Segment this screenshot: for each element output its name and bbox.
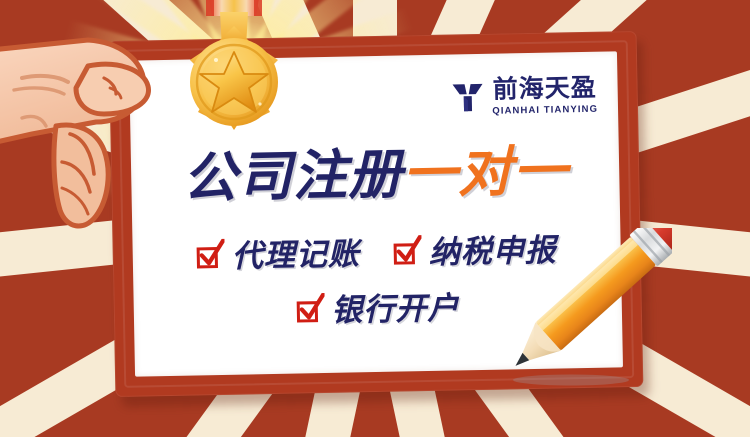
headline-primary: 公司注册: [182, 144, 403, 208]
service-item: 银行开户: [296, 292, 460, 326]
promo-banner: 前海天盈 QIANHAI TIANYING 公司注册一对一 代理: [0, 0, 750, 437]
checkbox-checked-icon: [296, 298, 322, 324]
pointing-hand-icon: [0, 30, 182, 280]
service-item: 代理记账: [196, 238, 360, 272]
t-funnel-logo-icon: [451, 80, 486, 115]
checkbox-checked-icon: [197, 243, 223, 269]
service-label: 代理记账: [231, 238, 360, 271]
brand-logo: 前海天盈 QIANHAI TIANYING: [451, 76, 598, 117]
pencil-icon: [497, 228, 672, 403]
gold-star-medal-icon: [176, 0, 292, 146]
service-label: 银行开户: [331, 292, 460, 325]
headline-accent: 一对一: [402, 141, 568, 204]
headline: 公司注册一对一: [131, 143, 620, 206]
logo-chinese-name: 前海天盈: [493, 76, 597, 103]
logo-english-name: QIANHAI TIANYING: [492, 105, 598, 117]
checkbox-checked-icon: [394, 240, 420, 266]
